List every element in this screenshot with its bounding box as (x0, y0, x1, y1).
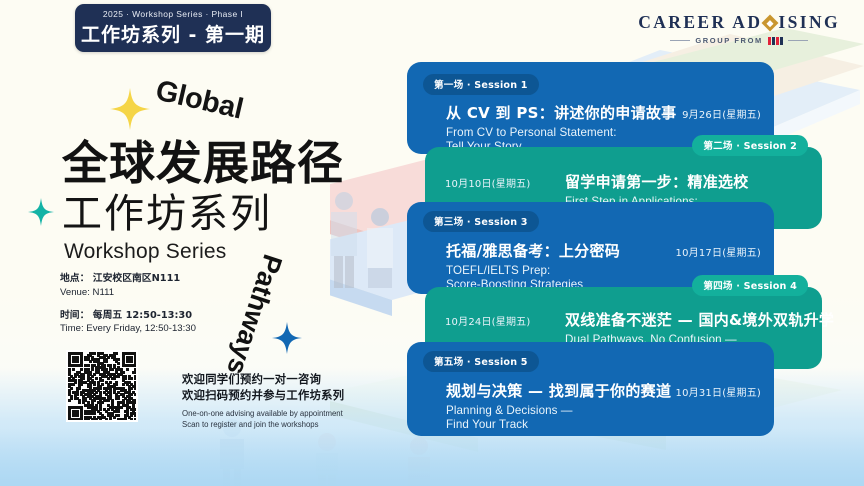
session-date-1: 9月26日(星期五) (682, 106, 761, 121)
session-date-5: 10月31日(星期五) (676, 384, 761, 399)
session-pill-1: 第一场 · Session 1 (423, 74, 539, 95)
session-pill-3: 第三场 · Session 3 (423, 211, 539, 232)
session-date-4: 10月24日(星期五) (445, 313, 530, 328)
session-title-en-5b: Find Your Track (446, 418, 671, 432)
session-title-5: 规划与决策 — 找到属于你的赛道 Planning & Decisions — … (446, 380, 671, 432)
session-pill-5: 第五场 · Session 5 (423, 351, 539, 372)
session-title-cn-3: 托福/雅思备考：上分密码 (446, 240, 620, 261)
session-pill-4: 第四场 · Session 4 (692, 275, 808, 296)
session-title-cn-5: 规划与决策 — 找到属于你的赛道 (446, 380, 671, 401)
session-date-2: 10月10日(星期五) (445, 175, 530, 190)
session-card-list: 第一场 · Session 1 9月26日(星期五) 从 CV 到 PS：讲述你… (0, 0, 864, 486)
session-card-5[interactable]: 第五场 · Session 5 10月31日(星期五) 规划与决策 — 找到属于… (407, 342, 774, 436)
session-pill-2: 第二场 · Session 2 (692, 135, 808, 156)
session-title-en-3a: TOEFL/IELTS Prep: (446, 264, 620, 278)
session-title-en-5a: Planning & Decisions — (446, 404, 671, 418)
session-title-cn-2: 留学申请第一步：精准选校 (565, 171, 749, 192)
session-title-en-1a: From CV to Personal Statement: (446, 126, 676, 140)
session-date-3: 10月17日(星期五) (676, 244, 761, 259)
session-title-cn-1: 从 CV 到 PS：讲述你的申请故事 (446, 102, 676, 123)
session-title-cn-4: 双线准备不迷茫 — 国内&境外双轨升学 (565, 309, 834, 330)
session-title-3: 托福/雅思备考：上分密码 TOEFL/IELTS Prep: Score-Boo… (446, 240, 620, 292)
